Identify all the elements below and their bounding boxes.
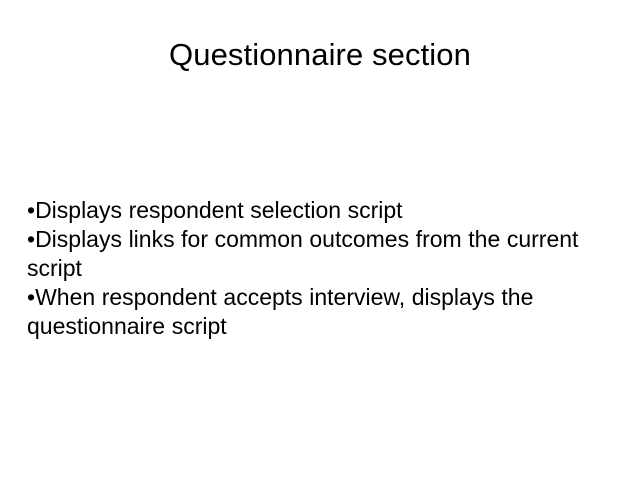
page-title: Questionnaire section — [0, 36, 640, 74]
list-item-label: Displays respondent selection script — [35, 197, 403, 223]
bullet-point-icon: • — [27, 284, 35, 310]
bullet-point-icon: • — [27, 226, 35, 252]
list-item: •When respondent accepts interview, disp… — [27, 283, 617, 341]
slide-canvas: Questionnaire section •Displays responde… — [0, 0, 640, 480]
list-item: •Displays links for common outcomes from… — [27, 225, 617, 283]
bullet-list: •Displays respondent selection script •D… — [27, 196, 617, 341]
slide-body-text: •Displays respondent selection script •D… — [27, 196, 617, 341]
list-item-label: Displays links for common outcomes from … — [27, 226, 578, 281]
list-item: •Displays respondent selection script — [27, 196, 617, 225]
bullet-point-icon: • — [27, 197, 35, 223]
list-item-label: When respondent accepts interview, displ… — [27, 284, 533, 339]
